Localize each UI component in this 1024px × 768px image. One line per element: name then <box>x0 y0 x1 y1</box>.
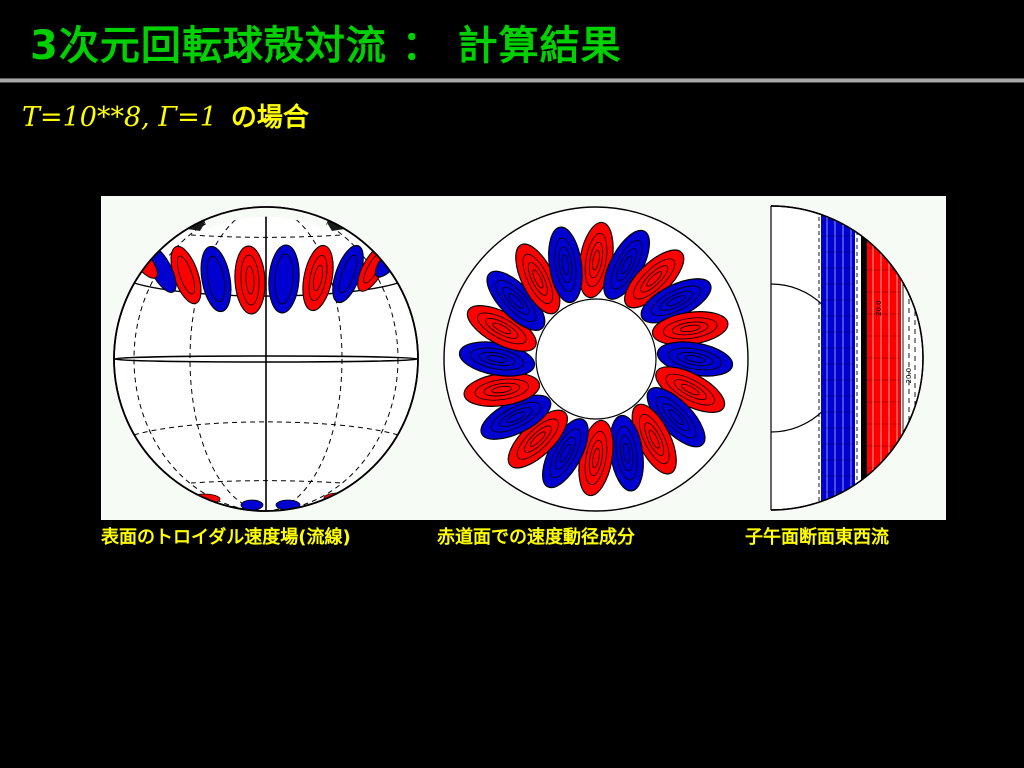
panel-meridional-zonal-flow: 20.0 -20.0 <box>761 196 946 520</box>
inner-core-circle <box>536 299 656 419</box>
slide-root: 3次元回転球殻対流 ： 計算結果 T=10**8, Γ=1の場合 <box>0 0 1024 768</box>
contour-label-positive: 20.0 <box>875 300 883 316</box>
parameter-formula: T=10**8, Γ=1 <box>22 102 217 133</box>
parameter-suffix: の場合 <box>217 103 309 133</box>
caption-surface-toroidal-velocity: 表面のトロイダル速度場(流線) <box>101 526 351 550</box>
contour-label-negative: -20.0 <box>905 368 913 386</box>
page-title: 3次元回転球殻対流 ： 計算結果 <box>30 20 994 76</box>
panel-surface-toroidal-velocity <box>101 196 431 520</box>
zero-contour <box>861 210 867 506</box>
title-divider <box>0 78 1024 83</box>
figure-panel-group: 20.0 -20.0 <box>101 196 946 520</box>
sphere-plot <box>101 196 431 520</box>
caption-meridional-zonal-flow: 子午面断面東西流 <box>745 526 889 550</box>
panel-equatorial-radial-velocity <box>431 196 761 520</box>
retrograde-band <box>819 210 857 506</box>
zonal-flow-bands: 20.0 -20.0 <box>819 210 915 506</box>
figure-captions: 表面のトロイダル速度場(流線) 赤道面での速度動径成分 子午面断面東西流 <box>101 526 981 552</box>
equator-plot <box>431 196 761 520</box>
caption-equatorial-radial-velocity: 赤道面での速度動径成分 <box>437 526 635 550</box>
meridian-plot: 20.0 -20.0 <box>761 196 946 520</box>
parameter-line: T=10**8, Γ=1の場合 <box>22 101 309 135</box>
prograde-band <box>865 210 903 506</box>
